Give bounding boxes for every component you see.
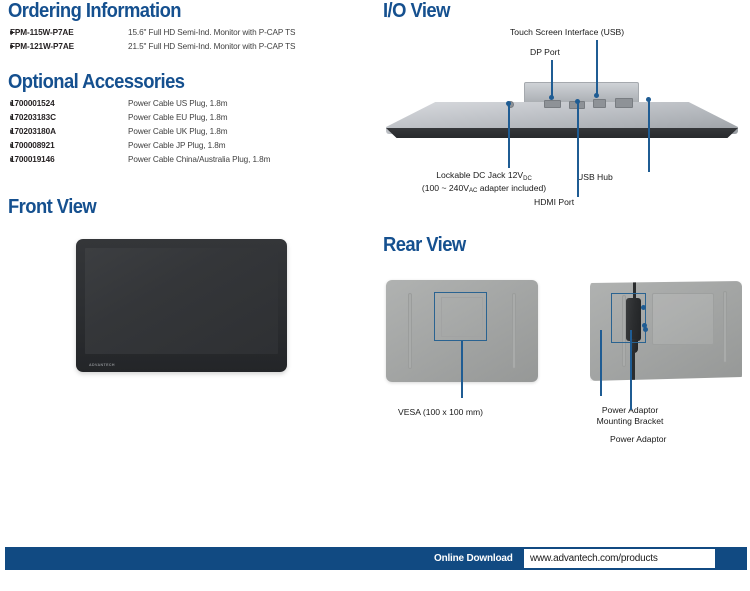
leader-line-adaptor [630, 330, 632, 410]
list-item: 170203183C Power Cable EU Plug, 1.8m [0, 111, 360, 125]
mounting-slot-right-2 [723, 291, 727, 363]
part-number: FPM-115W-P7AE [10, 28, 128, 37]
bullet-icon [0, 97, 10, 111]
touch-usb-connector [593, 99, 606, 108]
callout-usb-hub: USB Hub [577, 172, 613, 183]
part-number: 170203183C [10, 113, 128, 122]
optional-accessories-list: 1700001524 Power Cable US Plug, 1.8m 170… [0, 97, 360, 167]
leader-dot-usb-hub [646, 97, 651, 102]
bullet-icon [0, 125, 10, 139]
adaptor-cord-lower [632, 351, 635, 383]
io-view-device-image [383, 80, 743, 155]
advantech-logo: ADVANTECH [89, 363, 115, 367]
part-number: 170203180A [10, 127, 128, 136]
leader-dot-adaptor [642, 323, 647, 328]
callout-dc-jack: Lockable DC Jack 12VDC (100 ~ 240VAC ada… [394, 170, 574, 195]
part-number: 1700019146 [10, 155, 128, 164]
online-download-label: Online Download [434, 552, 513, 564]
leader-line-bracket [600, 330, 602, 396]
list-item: 1700001524 Power Cable US Plug, 1.8m [0, 97, 360, 111]
monitor-screen [85, 248, 278, 354]
mounting-bracket-highlight-box [611, 293, 646, 343]
vesa-highlight-box [434, 292, 487, 341]
leader-line-touch-screen [596, 40, 598, 96]
leader-dot-bracket-top [641, 305, 646, 310]
list-item: 1700019146 Power Cable China/Australia P… [0, 153, 360, 167]
bullet-icon [0, 40, 10, 54]
vesa-plate-2 [652, 293, 714, 345]
callout-dp-port: DP Port [530, 47, 560, 58]
mounting-slot-right [512, 293, 516, 369]
rear-view-adaptor-image [590, 281, 742, 381]
front-view-monitor-image: ADVANTECH [76, 239, 287, 372]
list-item: 1700008921 Power Cable JP Plug, 1.8m [0, 139, 360, 153]
part-description: 15.6" Full HD Semi-Ind. Monitor with P-C… [128, 28, 295, 37]
io-view-heading: I/O View [383, 0, 450, 22]
list-item: 170203180A Power Cable UK Plug, 1.8m [0, 125, 360, 139]
rear-view-heading: Rear View [383, 234, 466, 256]
callout-touch-screen-interface: Touch Screen Interface (USB) [510, 27, 624, 38]
callout-vesa: VESA (100 x 100 mm) [398, 407, 483, 418]
bullet-icon [0, 111, 10, 125]
callout-dc-jack-line2: (100 ~ 240VAC adapter included) [394, 183, 574, 196]
callout-dc-jack-line1: Lockable DC Jack 12VDC [394, 170, 574, 183]
download-url-text[interactable]: www.advantech.com/products [530, 553, 658, 564]
part-number: 1700008921 [10, 141, 128, 150]
callout-hdmi-port: HDMI Port [534, 197, 574, 208]
callout-bracket-line2: Mounting Bracket [550, 416, 710, 427]
callout-power-adaptor: Power Adaptor [610, 434, 666, 445]
leader-dot-dp-port [549, 95, 554, 100]
leader-line-dc-jack [508, 104, 510, 168]
optional-accessories-heading: Optional Accessories [8, 71, 184, 93]
leader-line-dp-port [551, 60, 553, 98]
part-number: 1700001524 [10, 99, 128, 108]
usb-hub-connector [615, 98, 633, 108]
ordering-information-list: FPM-115W-P7AE 15.6" Full HD Semi-Ind. Mo… [0, 26, 360, 54]
part-description: Power Cable US Plug, 1.8m [128, 99, 227, 108]
part-number: FPM-121W-P7AE [10, 42, 128, 51]
bullet-icon [0, 26, 10, 40]
bullet-icon [0, 139, 10, 153]
part-description: Power Cable UK Plug, 1.8m [128, 127, 227, 136]
part-description: Power Cable China/Australia Plug, 1.8m [128, 155, 270, 164]
mounting-slot-left [408, 293, 412, 369]
monitor-bezel-edge [386, 128, 738, 138]
leader-dot-hdmi-port [575, 99, 580, 104]
list-item: FPM-121W-P7AE 21.5" Full HD Semi-Ind. Mo… [0, 40, 360, 54]
bullet-icon [0, 153, 10, 167]
leader-line-usb-hub [648, 100, 650, 172]
list-item: FPM-115W-P7AE 15.6" Full HD Semi-Ind. Mo… [0, 26, 360, 40]
dp-port-connector [544, 100, 561, 108]
part-description: Power Cable EU Plug, 1.8m [128, 113, 227, 122]
leader-dot-touch-screen [594, 93, 599, 98]
leader-dot-dc-jack [506, 101, 511, 106]
leader-line-hdmi-port [577, 102, 579, 197]
front-view-heading: Front View [8, 196, 96, 218]
part-description: Power Cable JP Plug, 1.8m [128, 141, 225, 150]
ordering-information-heading: Ordering Information [8, 0, 181, 22]
part-description: 21.5" Full HD Semi-Ind. Monitor with P-C… [128, 42, 295, 51]
leader-line-vesa [461, 341, 463, 398]
